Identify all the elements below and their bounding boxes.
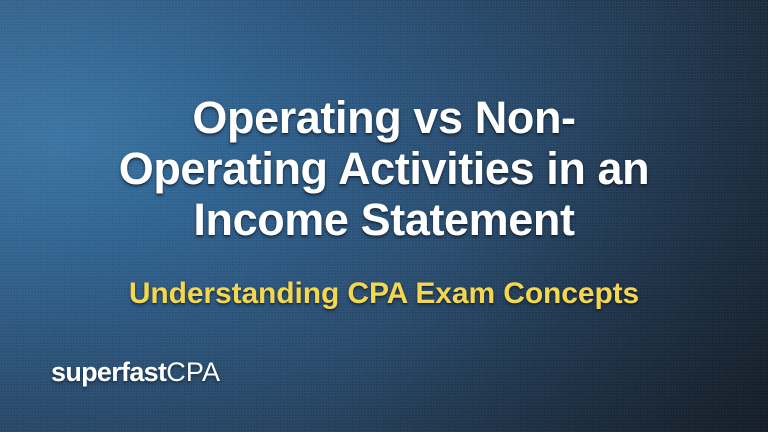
title-line-1: Operating vs Non- [24,92,744,143]
brand-logo-bold-text: superfast [51,357,166,387]
brand-logo-light-text: CPA [166,357,220,387]
title-line-2: Operating Activities in an [24,143,744,194]
title-line-3: Income Statement [24,194,744,245]
page-title: Operating vs Non- Operating Activities i… [0,92,768,245]
page-subtitle: Understanding CPA Exam Concepts [0,276,768,312]
slide-content: Operating vs Non- Operating Activities i… [0,0,768,432]
title-card-slide: Operating vs Non- Operating Activities i… [0,0,768,432]
brand-logo: superfastCPA [51,357,220,387]
